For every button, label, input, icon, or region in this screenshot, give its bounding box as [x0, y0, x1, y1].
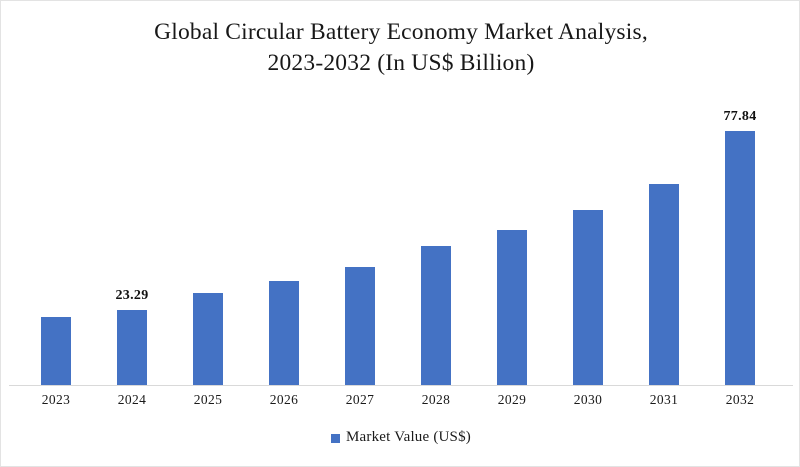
bar-group: [246, 96, 322, 386]
bar-group: [170, 96, 246, 386]
bar-group: [626, 96, 702, 386]
bar-2028[interactable]: [421, 246, 451, 386]
bar-group: [322, 96, 398, 386]
x-axis-line: [9, 385, 793, 386]
bar-group: 23.29: [94, 96, 170, 386]
bar-2029[interactable]: [497, 230, 527, 386]
bar-value-label-2032: 77.84: [702, 109, 778, 125]
x-tick-label-2024: 2024: [94, 392, 170, 408]
x-tick-label-2023: 2023: [18, 392, 94, 408]
bar-2025[interactable]: [193, 293, 223, 386]
x-tick-label-2028: 2028: [398, 392, 474, 408]
bar-2031[interactable]: [649, 184, 679, 386]
legend-item-market-value[interactable]: Market Value (US$): [331, 429, 471, 446]
legend-swatch-icon: [331, 434, 340, 443]
plot-area: 23.2977.84: [9, 96, 793, 386]
bar-2024[interactable]: [117, 310, 147, 386]
x-tick-label-2025: 2025: [170, 392, 246, 408]
x-tick-label-2030: 2030: [550, 392, 626, 408]
bar-group: 77.84: [702, 96, 778, 386]
x-tick-label-2026: 2026: [246, 392, 322, 408]
bar-2032[interactable]: [725, 131, 755, 386]
x-tick-label-2032: 2032: [702, 392, 778, 408]
x-tick-label-2031: 2031: [626, 392, 702, 408]
x-tick-label-2027: 2027: [322, 392, 398, 408]
bar-2023[interactable]: [41, 317, 71, 386]
bar-group: [550, 96, 626, 386]
chart-title: Global Circular Battery Economy Market A…: [1, 17, 800, 79]
bar-value-label-2024: 23.29: [94, 288, 170, 304]
bar-group: [18, 96, 94, 386]
x-tick-label-2029: 2029: [474, 392, 550, 408]
legend-label: Market Value (US$): [346, 429, 471, 446]
bar-2026[interactable]: [269, 281, 299, 386]
bar-group: [474, 96, 550, 386]
bar-2027[interactable]: [345, 267, 375, 386]
chart-figure: Global Circular Battery Economy Market A…: [0, 0, 800, 467]
bar-group: [398, 96, 474, 386]
chart-legend: Market Value (US$): [1, 429, 800, 446]
category-axis: 2023202420252026202720282029203020312032: [9, 392, 793, 416]
bar-2030[interactable]: [573, 210, 603, 386]
